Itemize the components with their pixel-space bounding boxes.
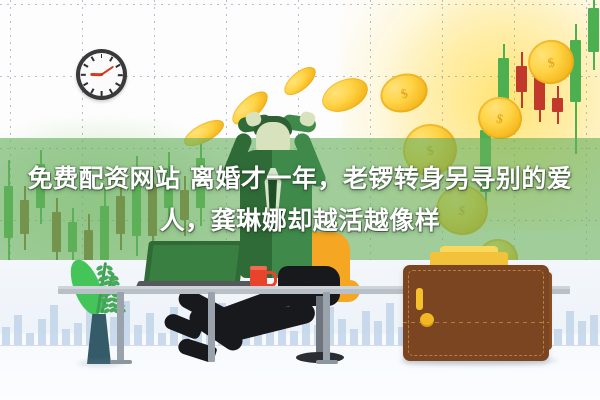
candle-body [516, 66, 527, 92]
city-bar [146, 313, 154, 345]
laptop-screen-inner [148, 245, 239, 286]
headline-line-1: 免费配资网站 离婚才一年，老锣转身另寻别的爱 [28, 164, 573, 193]
wall-clock [76, 49, 127, 100]
city-bar [62, 329, 70, 345]
city-bar [14, 315, 22, 345]
city-bar [374, 321, 382, 345]
desk-leg-mid-right [323, 292, 330, 362]
city-bar [386, 303, 394, 345]
desk-foot-right [316, 360, 338, 364]
wallet-clasp-button [420, 313, 434, 327]
city-bar [590, 315, 598, 345]
coffee-mug [250, 268, 267, 287]
city-bar [26, 333, 34, 345]
city-bar [566, 311, 574, 345]
headline-line-2: 人，龚琳娜却越活越像样 [160, 206, 441, 235]
city-bar [290, 331, 298, 345]
candle-body [552, 98, 563, 112]
desk-leg-left [117, 292, 124, 362]
banner-image: $$$$$$ [0, 0, 600, 400]
desk-foot-left [110, 360, 132, 364]
wallet-card [416, 288, 423, 310]
city-bar [2, 327, 10, 345]
coin-dollar-symbol: $ [546, 55, 555, 69]
coin-dollar-symbol: $ [399, 86, 409, 100]
candle-body [588, 8, 599, 52]
clock-face [80, 53, 123, 96]
city-bar [338, 319, 346, 345]
chair-pole [316, 296, 323, 358]
city-bar [554, 329, 562, 345]
coin-dollar-symbol: $ [495, 111, 504, 125]
city-bar [50, 305, 58, 345]
city-bar [578, 321, 586, 345]
city-bar [74, 323, 82, 345]
city-bar [38, 319, 46, 345]
headline-text: 免费配资网站 离婚才一年，老锣转身另寻别的爱人，龚琳娜却越活越像样 [0, 158, 600, 242]
city-bar [362, 311, 370, 345]
city-bar [158, 333, 166, 345]
clock-center-pin [100, 73, 103, 76]
mug-rim [250, 266, 267, 270]
desk-leg-mid-left [208, 292, 215, 362]
city-bar [350, 329, 358, 345]
city-bar [134, 325, 142, 345]
